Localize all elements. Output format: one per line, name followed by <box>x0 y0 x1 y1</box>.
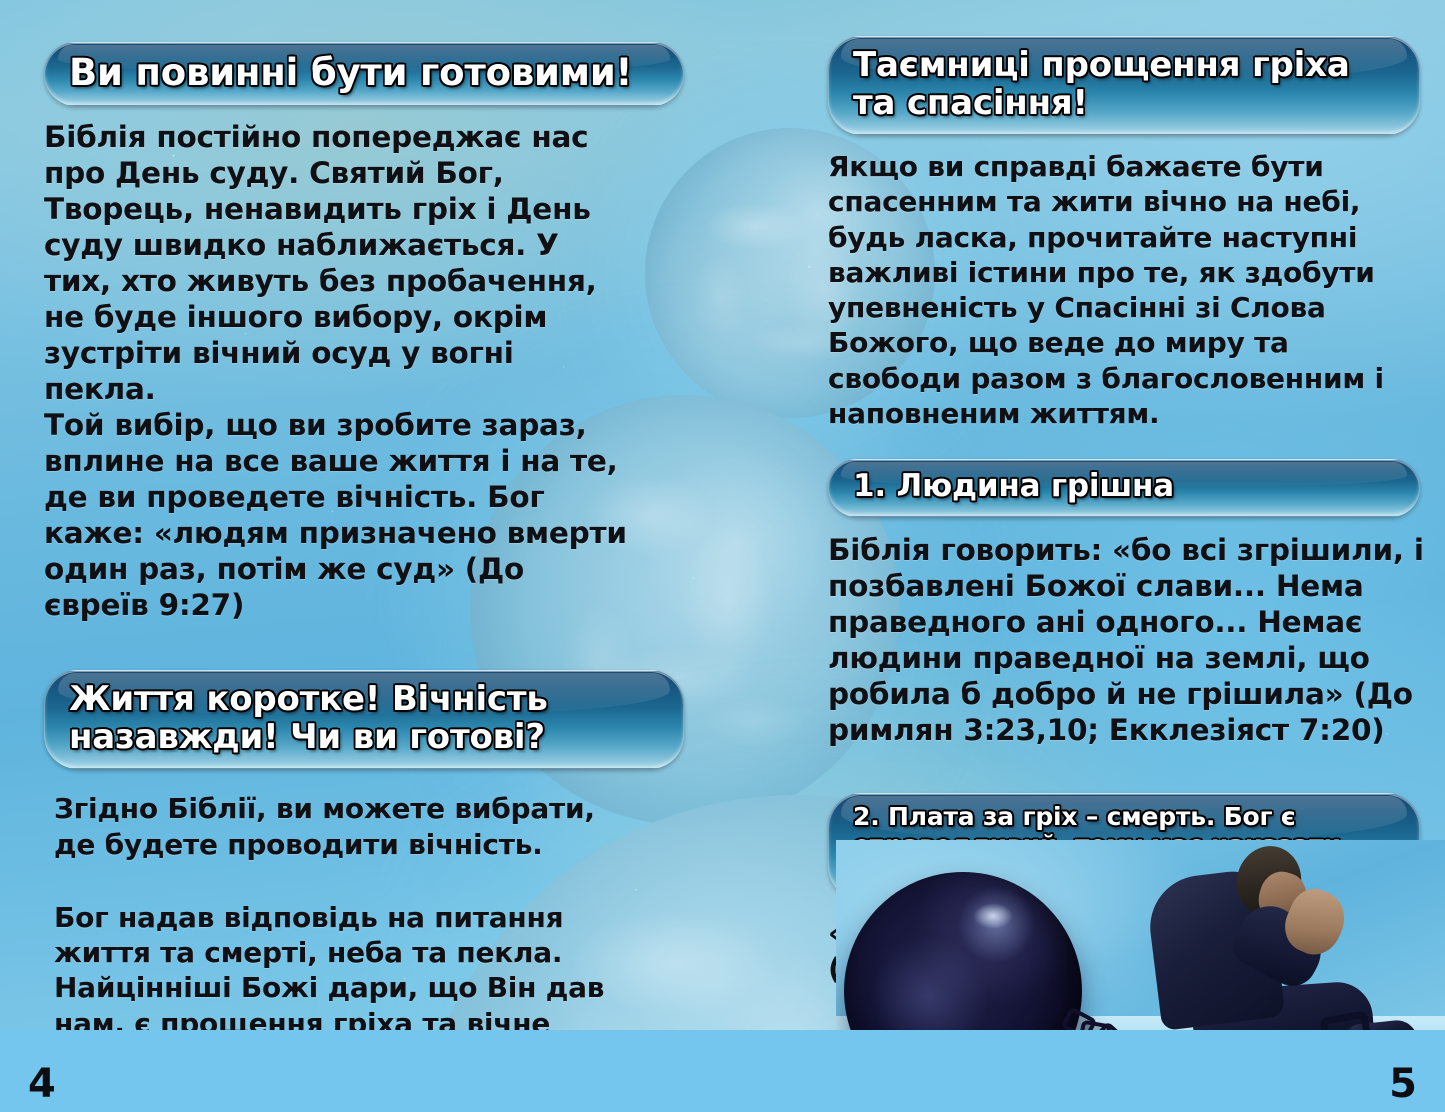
page-number-left: 4 <box>28 1064 56 1104</box>
heading-secrets-of-forgiveness-label: Таємниці прощення гріха та спасіння! <box>853 46 1395 122</box>
left-section2-paragraph-1: Згідно Біблії, ви можете вибрати, де буд… <box>54 791 634 862</box>
page-number-right: 5 <box>1389 1064 1417 1104</box>
left-paragraph-2: Той вибір, що ви зробите зараз, вплине н… <box>44 408 629 624</box>
heading-you-must-be-ready-label: Ви повинні бути готовими! <box>69 52 659 93</box>
heading-life-is-short: Життя коротке! Вічність назавжди! Чи ви … <box>44 670 684 769</box>
right-paragraph-1: Якщо ви справді бажаєте бути спасенним т… <box>828 149 1403 431</box>
left-paragraph-1: Біблія постійно попереджає нас про День … <box>44 120 614 408</box>
heading-point-1-man-is-sinful: 1. Людина грішна <box>828 459 1420 517</box>
heading-point-1-label: 1. Людина грішна <box>853 469 1395 504</box>
left-page-column: Ви повинні бути готовими! Біблія постійн… <box>44 0 684 1076</box>
footer-strip <box>0 1030 1445 1112</box>
heading-secrets-of-forgiveness: Таємниці прощення гріха та спасіння! <box>828 36 1420 135</box>
heading-you-must-be-ready: Ви повинні бути готовими! <box>44 42 684 106</box>
point-1-paragraph: Біблія говорить: «бо всі згрішили, і поз… <box>828 533 1428 749</box>
tract-spread: Ви повинні бути готовими! Біблія постійн… <box>0 0 1445 1112</box>
heading-life-is-short-label: Життя коротке! Вічність назавжди! Чи ви … <box>69 680 659 756</box>
